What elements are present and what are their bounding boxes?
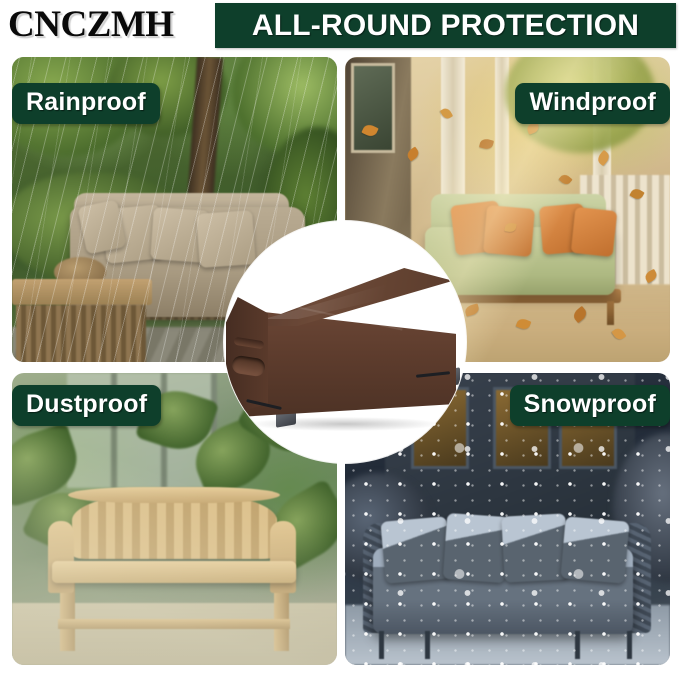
product-highlight-circle (224, 221, 466, 463)
sofa-leg (425, 631, 430, 659)
badge-snowproof: Snowproof (510, 385, 670, 426)
brand-logo: CNCZMH (8, 4, 208, 46)
sofa-leg (627, 631, 632, 659)
badge-windproof: Windproof (515, 83, 670, 124)
coffee-table-top (12, 279, 152, 305)
cover-side-panel (226, 297, 268, 413)
sofa-cushion (560, 516, 629, 583)
patio-sofa-cover (224, 221, 466, 463)
badge-dustproof: Dustproof (12, 385, 161, 426)
sofa-cushion (501, 513, 568, 582)
sofa-cushion (380, 516, 451, 584)
header-banner: ALL-ROUND PROTECTION (215, 3, 676, 48)
sofa-leg (575, 631, 580, 659)
badge-rainproof: Rainproof (12, 83, 160, 124)
coffee-table-weave (16, 305, 146, 362)
header-banner-title: ALL-ROUND PROTECTION (252, 9, 639, 43)
sofa-leg (379, 631, 384, 659)
header-bar: CNCZMH ALL-ROUND PROTECTION (0, 0, 679, 52)
sofa-cushion (443, 513, 509, 583)
